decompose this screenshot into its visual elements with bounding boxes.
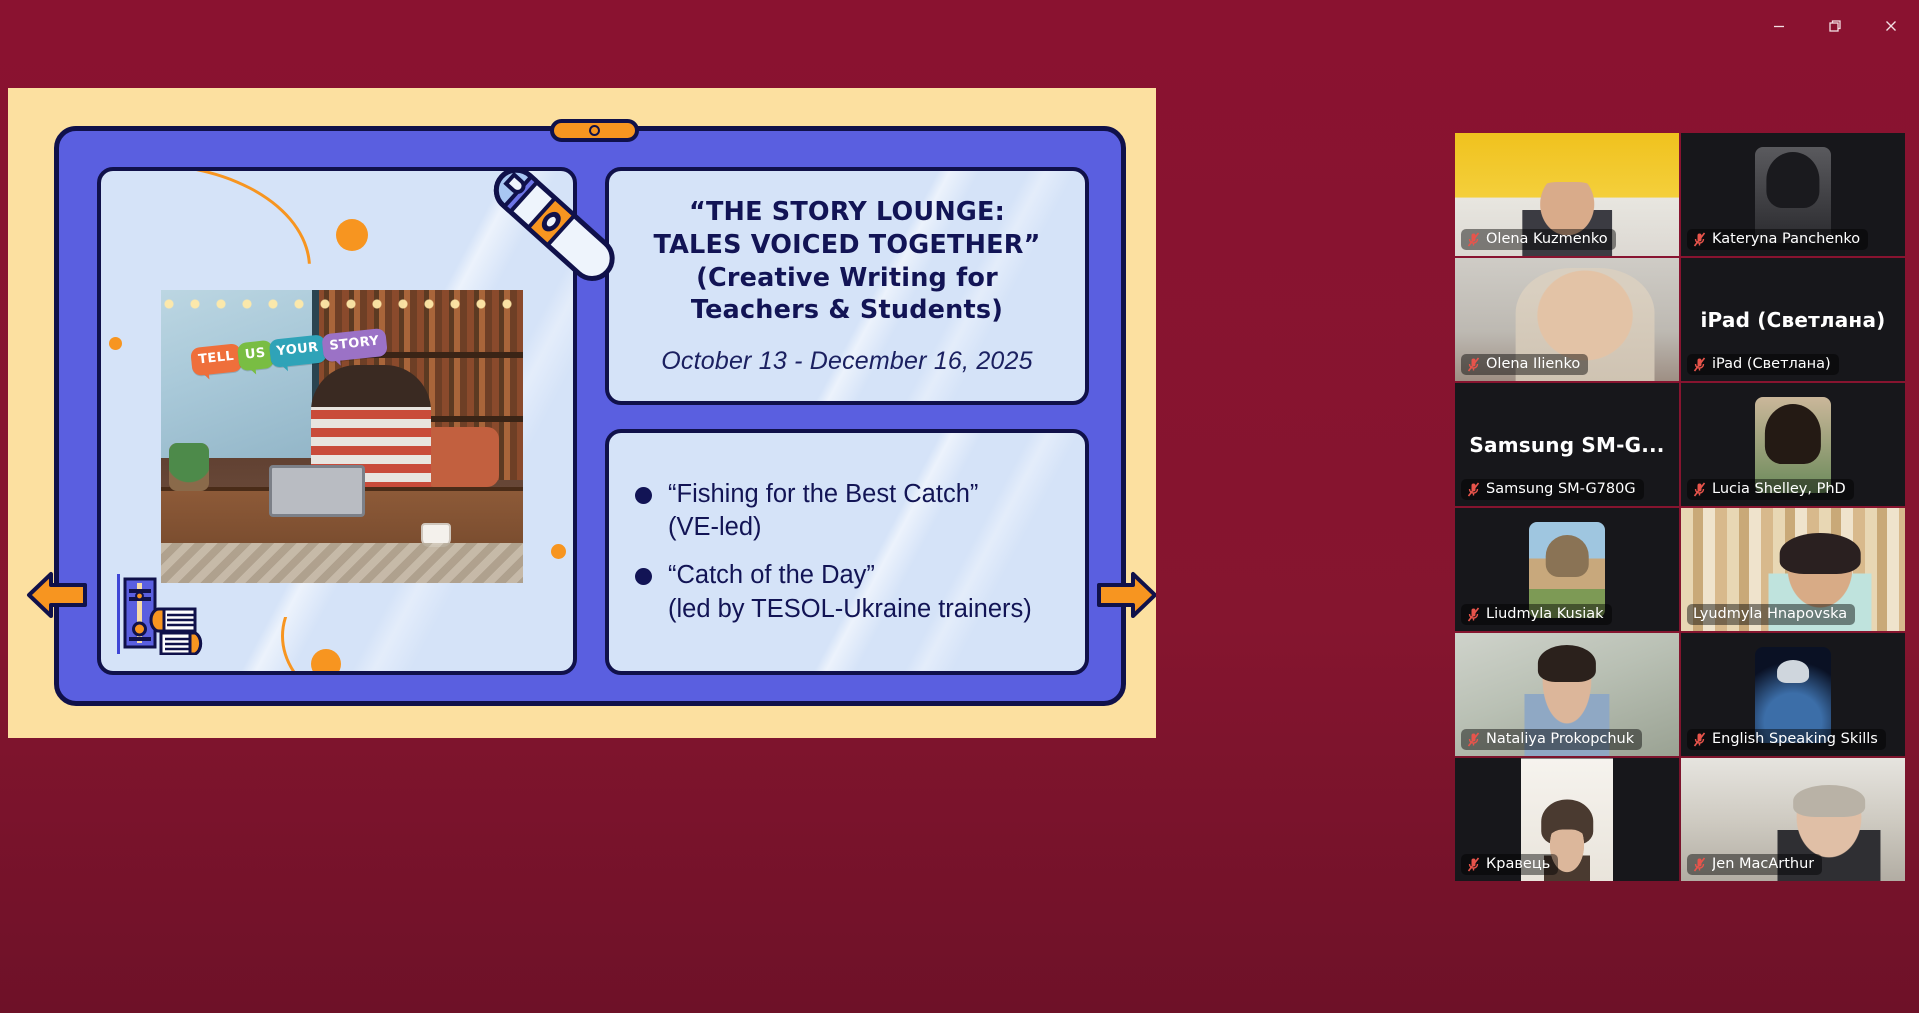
restore-icon [1827, 18, 1843, 34]
rug [161, 543, 523, 583]
speech-bubble: YOUR [268, 334, 327, 368]
participant-name: Lyudmyla Hnapovska [1693, 606, 1847, 622]
participant-name-badge: Nataliya Prokopchuk [1461, 729, 1642, 750]
slide-date-range: October 13 - December 16, 2025 [661, 347, 1032, 376]
participant-hair [1780, 533, 1861, 575]
title-content: “THE STORY LOUNGE: TALES VOICED TOGETHER… [609, 171, 1085, 401]
participant-name-badge: Samsung SM-G780G [1461, 479, 1644, 500]
list-item-text: “Catch of the Day” (led by TESOL-Ukraine… [668, 559, 1032, 626]
participant-tile[interactable]: Olena Kuzmenko [1455, 133, 1679, 256]
participant-name: Lucia Shelley, PhD [1712, 481, 1846, 497]
list-item-sub: (VE-led) [668, 511, 978, 545]
participant-name-badge: Кравець [1461, 854, 1558, 875]
books-icon [115, 573, 207, 655]
avatar-hair [1765, 404, 1821, 464]
shared-screen-slide: TELL US YOUR STORY [8, 88, 1156, 738]
decor-dot-small-right [551, 544, 566, 559]
participant-tile[interactable]: Liudmyla Kusiak [1455, 508, 1679, 631]
next-slide-arrow-icon[interactable] [1096, 566, 1156, 624]
participant-name-badge: Jen MacArthur [1687, 854, 1822, 875]
decor-dot-large-top [336, 219, 368, 251]
avatar-hair [1546, 535, 1589, 577]
participant-name-badge: English Speaking Skills [1687, 729, 1886, 750]
pillow-orange [421, 427, 499, 487]
plant [169, 443, 209, 491]
participant-name: Kateryna Panchenko [1712, 231, 1860, 247]
participant-name-badge: Kateryna Panchenko [1687, 229, 1868, 250]
previous-slide-arrow-icon[interactable] [26, 566, 88, 624]
decor-dot-large-bottom [311, 649, 341, 675]
participant-tile[interactable]: Кравець [1455, 758, 1679, 881]
participant-tile[interactable]: Nataliya Prokopchuk [1455, 633, 1679, 756]
participant-display-name: Samsung SM-G... [1455, 433, 1679, 457]
list-item-main: “Fishing for the Best Catch” [668, 480, 978, 508]
slide-frame: TELL US YOUR STORY [54, 126, 1126, 706]
title-line: TALES VOICED TOGETHER” [653, 229, 1040, 262]
laptop [269, 465, 365, 517]
participant-name: Liudmyla Kusiak [1486, 606, 1604, 622]
mic-muted-icon [1467, 482, 1480, 497]
participant-tile[interactable]: Samsung SM-G... Samsung SM-G780G [1455, 383, 1679, 506]
minimize-icon [1771, 18, 1787, 34]
participant-name: Olena Kuzmenko [1486, 231, 1608, 247]
list-item-main: “Catch of the Day” [668, 561, 875, 589]
participant-tile-active-speaker[interactable]: Lyudmyla Hnapovska [1681, 508, 1905, 631]
close-icon [1883, 18, 1899, 34]
title-line: Teachers & Students) [653, 294, 1040, 327]
decor-dot-small-left [109, 337, 122, 350]
mic-muted-icon [1693, 732, 1706, 747]
close-button[interactable] [1863, 3, 1919, 49]
participant-tile[interactable]: Olena Ilienko [1455, 258, 1679, 381]
participant-name-badge: Lucia Shelley, PhD [1687, 479, 1854, 500]
participant-name: Nataliya Prokopchuk [1486, 731, 1634, 747]
fairy-lights [161, 296, 523, 316]
slide-title-panel: “THE STORY LOUNGE: TALES VOICED TOGETHER… [605, 167, 1089, 405]
mic-muted-icon [1467, 857, 1480, 872]
participant-name: iPad (Светлана) [1712, 356, 1831, 372]
participant-tile[interactable]: Jen MacArthur [1681, 758, 1905, 881]
bubble-label: YOUR [276, 340, 320, 359]
minimize-button[interactable] [1751, 3, 1807, 49]
participant-tile[interactable]: Kateryna Panchenko [1681, 133, 1905, 256]
list-item: “Fishing for the Best Catch” (VE-led) [635, 478, 1067, 545]
bubble-label: US [244, 345, 266, 362]
bubble-label: TELL [198, 349, 235, 368]
participant-tile[interactable]: English Speaking Skills [1681, 633, 1905, 756]
restore-button[interactable] [1807, 3, 1863, 49]
participant-hair [1793, 785, 1865, 817]
participant-name: Jen MacArthur [1712, 856, 1814, 872]
pill-ring-icon [589, 125, 600, 136]
participant-hair [1538, 645, 1596, 682]
participant-name: English Speaking Skills [1712, 731, 1878, 747]
mic-muted-icon [1467, 232, 1480, 247]
participant-name-badge: iPad (Светлана) [1687, 354, 1839, 375]
list-item-text: “Fishing for the Best Catch” (VE-led) [668, 478, 978, 545]
story-illustration-image: TELL US YOUR STORY [161, 290, 523, 583]
window-controls [1751, 0, 1919, 52]
participant-name-badge: Olena Ilienko [1461, 354, 1588, 375]
bullet-list: “Fishing for the Best Catch” (VE-led) “C… [609, 433, 1085, 671]
participant-name: Olena Ilienko [1486, 356, 1580, 372]
mic-muted-icon [1693, 482, 1706, 497]
speech-bubble: US [237, 340, 274, 371]
list-item: “Catch of the Day” (led by TESOL-Ukraine… [635, 559, 1067, 626]
participant-name: Samsung SM-G780G [1486, 481, 1636, 497]
mic-muted-icon [1693, 857, 1706, 872]
list-item-sub: (led by TESOL-Ukraine trainers) [668, 593, 1032, 627]
participant-name: Кравець [1486, 856, 1550, 872]
mic-muted-icon [1693, 357, 1706, 372]
speech-bubble: TELL [190, 343, 243, 376]
avatar-hair [1766, 152, 1819, 208]
participant-tile[interactable]: Lucia Shelley, PhD [1681, 383, 1905, 506]
bubble-label: STORY [329, 334, 380, 354]
title-line: “THE STORY LOUNGE: [653, 196, 1040, 229]
mic-muted-icon [1693, 232, 1706, 247]
slide-title: “THE STORY LOUNGE: TALES VOICED TOGETHER… [653, 196, 1040, 328]
bullet-dot-icon [635, 487, 652, 504]
title-line: (Creative Writing for [653, 262, 1040, 295]
participant-name-badge: Lyudmyla Hnapovska [1687, 604, 1855, 625]
mic-muted-icon [1467, 357, 1480, 372]
participant-video-grid: Olena Kuzmenko Kateryna Panchenko [1455, 133, 1905, 881]
participant-name-badge: Olena Kuzmenko [1461, 229, 1616, 250]
participant-name-badge: Liudmyla Kusiak [1461, 604, 1612, 625]
slide-pill-tab [550, 119, 639, 142]
participant-display-name: iPad (Светлана) [1681, 308, 1905, 332]
bullet-dot-icon [635, 568, 652, 585]
mic-muted-icon [1467, 607, 1480, 622]
slide-bullets-panel: “Fishing for the Best Catch” (VE-led) “C… [605, 429, 1089, 675]
mic-muted-icon [1467, 732, 1480, 747]
pencil-icon [475, 155, 635, 295]
participant-tile[interactable]: iPad (Светлана) iPad (Светлана) [1681, 258, 1905, 381]
avatar-hair [1777, 660, 1809, 683]
